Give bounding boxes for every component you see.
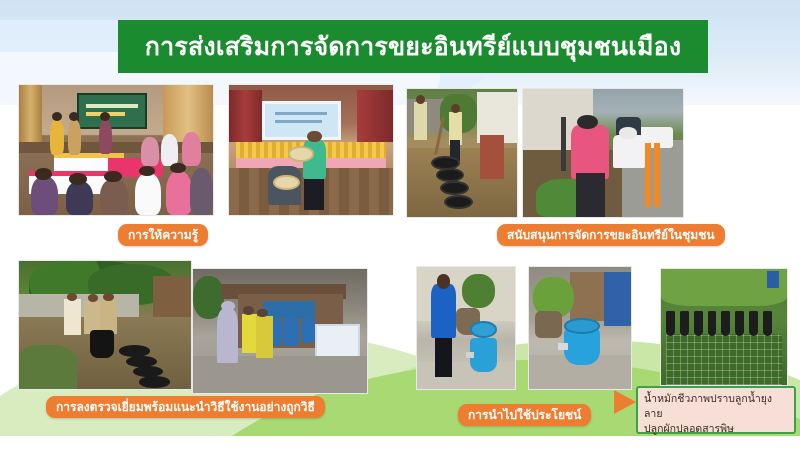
note-box: น้ำหมักชีวภาพปราบลูกน้ำยุงลาย ปลูกผักปลอ… <box>636 386 796 434</box>
caption-support: สนับสนุนการจัดการขยะอินทรีย์ในชุมชน <box>497 224 725 246</box>
photo-seminar-room <box>18 84 214 216</box>
slide-title-bar: การส่งเสริมการจัดการขยะอินทรีย์แบบชุมชนเ… <box>118 20 708 73</box>
note-line-2: ปลูกผักปลอดสารพิษ <box>644 422 788 437</box>
photo-bucket-closeup <box>528 266 632 390</box>
slide-canvas: การส่งเสริมการจัดการขยะอินทรีย์แบบชุมชนเ… <box>0 0 800 450</box>
slide-title: การส่งเสริมการจัดการขยะอินทรีย์แบบชุมชนเ… <box>145 34 682 59</box>
note-pointer-arrow-icon <box>614 390 636 414</box>
caption-utilization: การนำไปใช้ประโยชน์ <box>458 404 591 426</box>
photo-woman-blue-bucket <box>416 266 516 390</box>
photo-vertical-garden <box>660 268 788 386</box>
photo-digging-bins <box>406 88 518 218</box>
photo-roadside-barrels <box>192 268 368 394</box>
photo-auditorium-presenter <box>228 84 394 216</box>
note-line-1: น้ำหมักชีวภาพปราบลูกน้ำยุงลาย <box>644 392 788 422</box>
background-bottom-strip <box>0 436 800 450</box>
photo-officials-inspection <box>18 260 192 390</box>
caption-inspection: การลงตรวจเยี่ยมพร้อมแนะนำวิธีใช้งานอย่าง… <box>46 396 325 418</box>
photo-posthole-diggers <box>522 88 684 218</box>
caption-knowledge: การให้ความรู้ <box>118 224 208 246</box>
